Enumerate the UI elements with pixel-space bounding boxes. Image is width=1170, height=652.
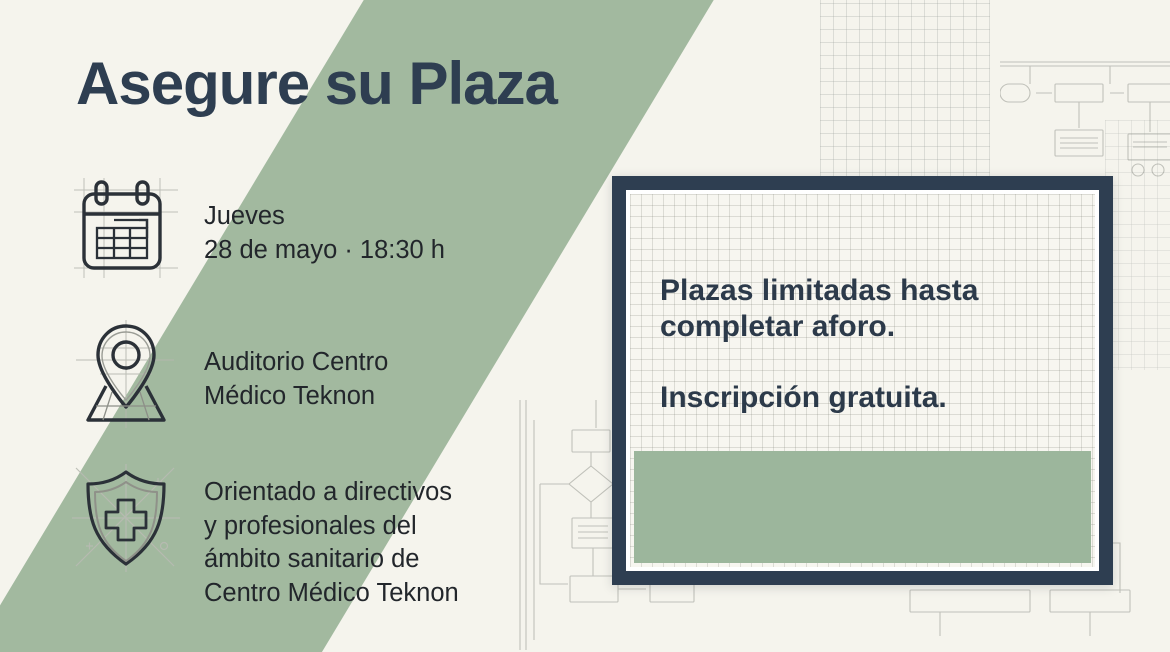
highlight-line-2: Inscripción gratuita. bbox=[660, 380, 1069, 417]
slide-canvas: Asegure su Plaza bbox=[0, 0, 1170, 652]
green-placeholder-block bbox=[634, 451, 1091, 563]
map-pin-icon bbox=[70, 318, 182, 430]
info-row-audience: Orientado a directivos y profesionales d… bbox=[70, 462, 459, 611]
page-title: Asegure su Plaza bbox=[76, 52, 557, 115]
info-row-date: Jueves 28 de mayo · 18:30 h bbox=[70, 172, 445, 284]
grid-texture-right bbox=[1105, 120, 1170, 370]
highlight-card: Plazas limitadas hasta completar aforo. … bbox=[612, 176, 1113, 585]
highlight-card-inner: Plazas limitadas hasta completar aforo. … bbox=[626, 190, 1099, 571]
info-text-date: Jueves 28 de mayo · 18:30 h bbox=[204, 172, 445, 267]
info-row-location: Auditorio Centro Médico Teknon bbox=[70, 318, 388, 430]
highlight-card-text: Plazas limitadas hasta completar aforo. … bbox=[630, 194, 1095, 453]
calendar-icon bbox=[70, 172, 182, 284]
flowchart-lineart-top-right bbox=[1000, 18, 1170, 198]
highlight-line-1: Plazas limitadas hasta completar aforo. bbox=[660, 274, 979, 344]
info-text-location: Auditorio Centro Médico Teknon bbox=[204, 318, 388, 413]
info-text-audience: Orientado a directivos y profesionales d… bbox=[204, 462, 459, 611]
medical-shield-icon bbox=[70, 462, 182, 574]
